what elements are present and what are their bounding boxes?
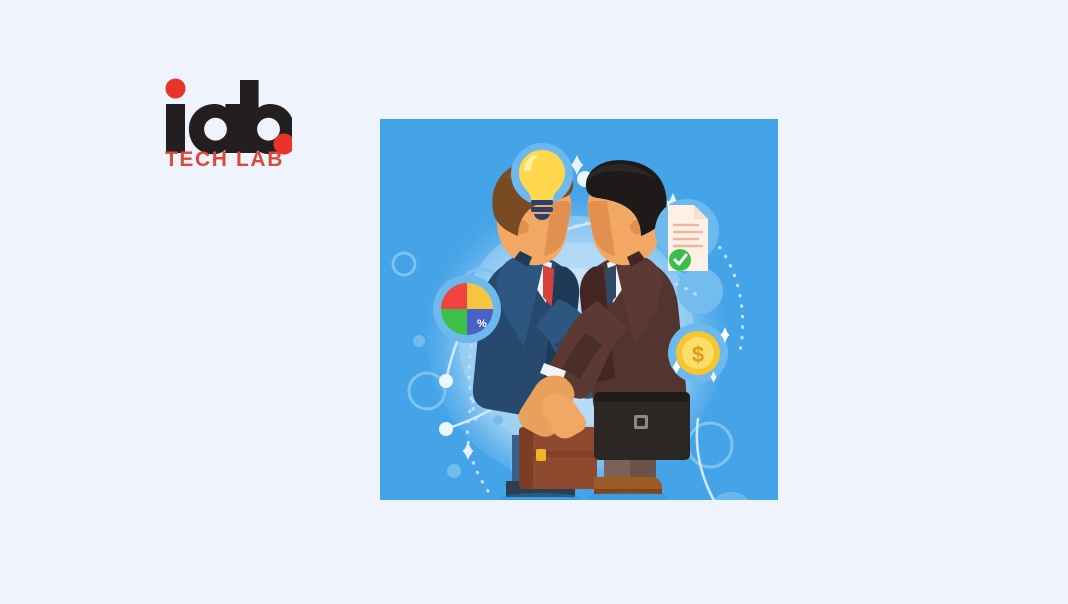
connector-dot <box>439 374 453 388</box>
coin-dollar-symbol: $ <box>692 342 704 367</box>
briefcase-clasp <box>536 449 546 461</box>
decor-bubble <box>413 335 425 347</box>
bulb-base <box>531 200 553 205</box>
connector-dot <box>439 422 453 436</box>
iab-tech-lab-logo: TECH LAB <box>162 78 292 168</box>
pie-percent-label: % <box>477 318 487 330</box>
brand-tagline: TECH LAB <box>165 148 284 168</box>
briefcase-black <box>594 392 690 460</box>
business-handshake-illustration: % $ <box>380 119 778 500</box>
i-dot-icon <box>166 79 186 99</box>
letter-i <box>166 104 185 153</box>
decor-bubble <box>493 415 503 425</box>
page-root: TECH LAB <box>0 0 1068 604</box>
pie-chart-icon: % <box>433 275 501 343</box>
decor-bubble <box>677 268 723 314</box>
briefcase-strap <box>519 451 597 457</box>
decor-bubble <box>447 464 461 478</box>
check-badge <box>669 249 691 271</box>
